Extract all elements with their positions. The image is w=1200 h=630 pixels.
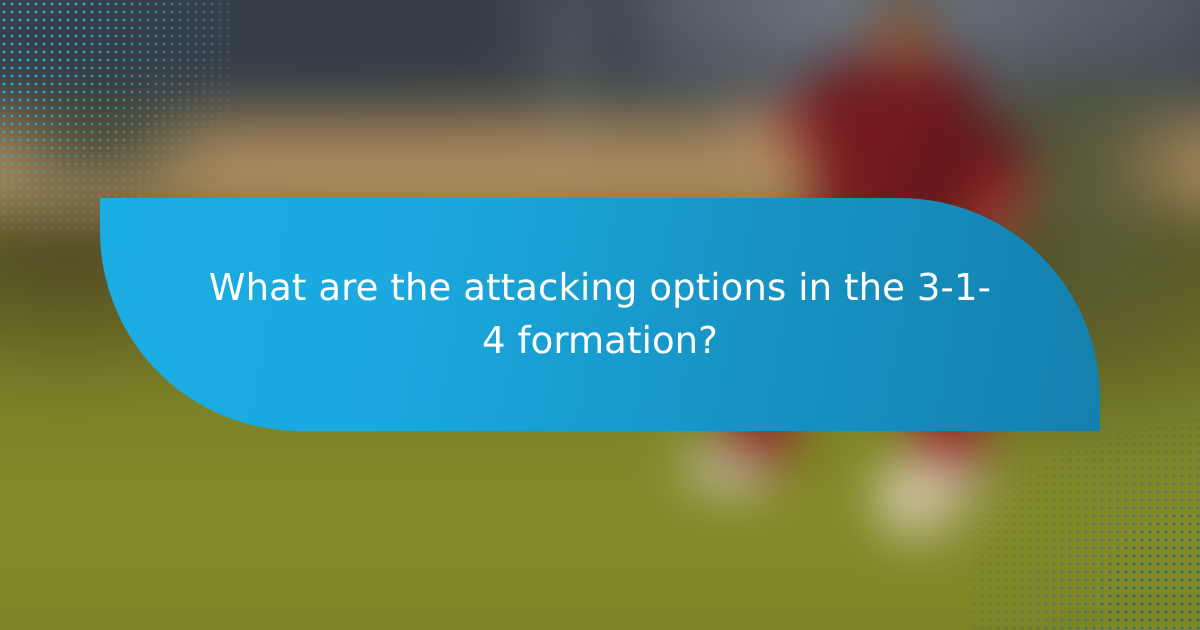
- soccer-ball-marking: [912, 485, 946, 513]
- social-card: What are the attacking options in the 3-…: [0, 0, 1200, 630]
- goal-post: [565, 0, 574, 175]
- foliage-left: [0, 60, 220, 190]
- title-banner: What are the attacking options in the 3-…: [100, 198, 1100, 431]
- page-title: What are the attacking options in the 3-…: [205, 262, 995, 367]
